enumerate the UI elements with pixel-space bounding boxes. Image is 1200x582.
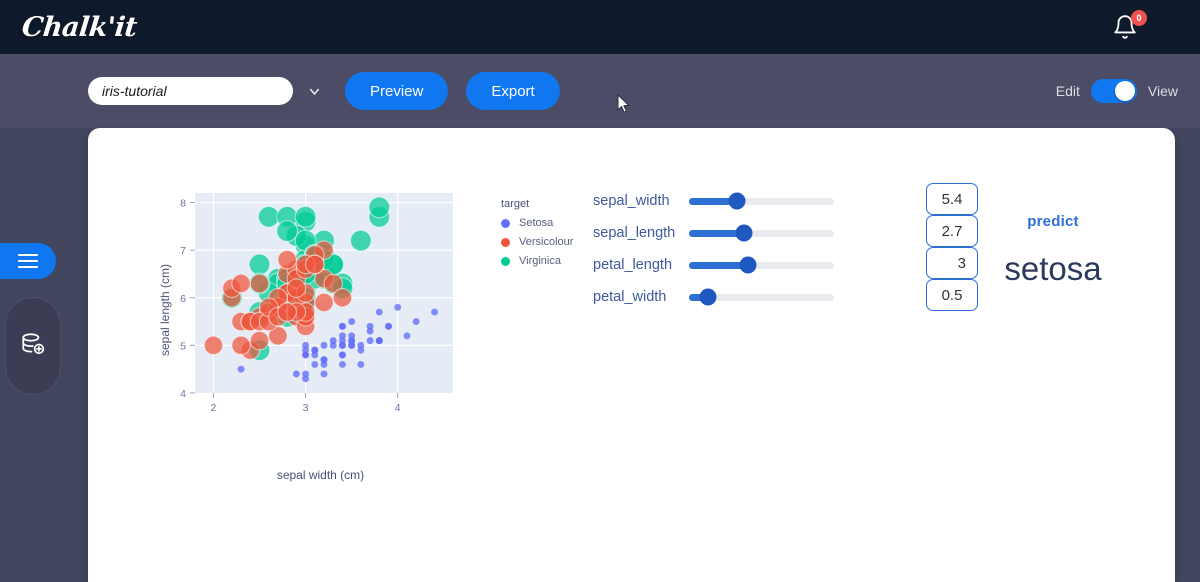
predict-label: predict [943, 213, 1163, 230]
legend-item-label: Setosa [519, 217, 553, 229]
hamburger-menu-icon [18, 250, 38, 272]
legend-color-swatch [501, 257, 510, 266]
bell-icon[interactable]: 0 [1112, 13, 1138, 41]
y-tick-label: 4 [180, 388, 186, 400]
legend-item-label: Versicolour [519, 236, 573, 248]
project-name-input[interactable] [88, 77, 293, 105]
legend-item[interactable]: Versicolour [501, 236, 573, 248]
export-button[interactable]: Export [466, 72, 559, 110]
dashboard-card: 45678234 sepal width (cm) sepal length (… [88, 128, 1175, 582]
y-tick-label: 6 [180, 293, 186, 305]
y-axis-title: sepal length (cm) [158, 240, 172, 380]
chevron-down-icon[interactable] [305, 82, 323, 100]
slider-label-sepal-length: sepal_length [593, 225, 689, 241]
toggle-knob [1115, 81, 1135, 101]
slider-thumb[interactable] [699, 289, 716, 306]
sidebar-toggle-button[interactable] [0, 243, 56, 279]
slider-petal-width[interactable] [689, 294, 834, 301]
y-tick-label: 7 [180, 245, 186, 257]
edit-view-toggle-group: Edit View [1056, 79, 1178, 103]
sidebar-item-datasource[interactable] [5, 297, 61, 395]
y-tick-label: 8 [180, 198, 186, 210]
slider-thumb[interactable] [736, 225, 753, 242]
x-axis-title: sepal width (cm) [143, 468, 498, 482]
notification-badge: 0 [1131, 10, 1147, 26]
preview-button[interactable]: Preview [345, 72, 448, 110]
prediction-panel: predict setosa [943, 213, 1163, 288]
y-tick-label: 5 [180, 340, 186, 352]
slider-petal-length[interactable] [689, 262, 834, 269]
slider-label-petal-length: petal_length [593, 257, 689, 273]
x-tick-label: 3 [303, 402, 309, 414]
slider-row: petal_width [593, 281, 903, 313]
top-navbar: Chalk'it 0 [0, 0, 1200, 54]
slider-thumb[interactable] [728, 193, 745, 210]
legend-color-swatch [501, 219, 510, 228]
legend-item[interactable]: Setosa [501, 217, 573, 229]
slider-row: petal_length [593, 249, 903, 281]
slider-label-petal-width: petal_width [593, 289, 689, 305]
scatter-plot: 45678234 sepal width (cm) sepal length (… [143, 183, 563, 503]
predict-value: setosa [943, 250, 1163, 288]
x-tick-label: 4 [395, 402, 401, 414]
value-input-sepal-width[interactable]: 5.4 [926, 183, 978, 215]
legend-item-label: Virginica [519, 255, 561, 267]
slider-thumb[interactable] [740, 257, 757, 274]
slider-row: sepal_length [593, 217, 903, 249]
app-root: Chalk'it 0 Preview Export Edit [0, 0, 1200, 582]
slider-row: sepal_width [593, 185, 903, 217]
toolbar: Preview Export Edit View [0, 54, 1200, 128]
x-tick-label: 2 [211, 402, 217, 414]
mode-toggle[interactable] [1091, 79, 1137, 103]
edit-mode-label[interactable]: Edit [1056, 83, 1080, 99]
slider-sepal-length[interactable] [689, 230, 834, 237]
database-add-icon [20, 331, 46, 362]
legend-color-swatch [501, 238, 510, 247]
legend-item[interactable]: Virginica [501, 255, 573, 267]
legend-title: target [501, 198, 573, 210]
view-mode-label[interactable]: View [1148, 83, 1178, 99]
app-logo[interactable]: Chalk'it [20, 12, 138, 43]
slider-sepal-width[interactable] [689, 198, 834, 205]
feature-sliders: sepal_widthsepal_lengthpetal_lengthpetal… [593, 185, 903, 313]
slider-label-sepal-width: sepal_width [593, 193, 689, 209]
chart-legend: target SetosaVersicolourVirginica [501, 198, 573, 274]
notifications-area: 0 [1112, 13, 1138, 41]
plot-canvas[interactable]: 45678234 [143, 183, 563, 463]
